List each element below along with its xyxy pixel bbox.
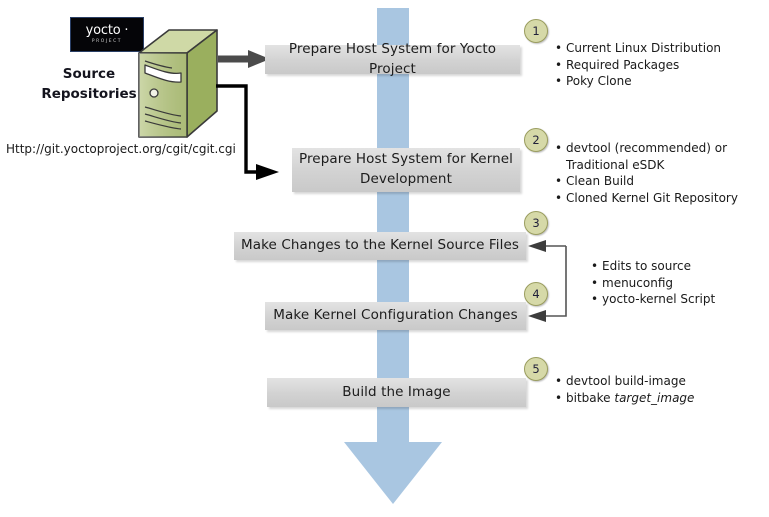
logo-subtext: PROJECT — [92, 38, 122, 45]
list-item: Cloned Kernel Git Repository — [566, 190, 767, 207]
step-2-bullets: devtool (recommended) or Traditional eSD… — [552, 140, 767, 206]
step-2-number: 2 — [532, 133, 539, 147]
source-repositories-label-line2: Repositories — [34, 84, 144, 104]
step-5-box-label: Build the Image — [342, 383, 450, 403]
bracket-steps-3-4-icon — [528, 240, 566, 322]
step-3-box-label: Make Changes to the Kernel Source Files — [241, 236, 519, 256]
list-item-text: bitbake — [566, 391, 614, 405]
list-item: bitbake target_image — [566, 390, 757, 407]
list-item: Required Packages — [566, 57, 762, 74]
step-3-number-badge: 3 — [524, 211, 548, 235]
list-item-italic-arg: target_image — [614, 391, 694, 405]
source-repositories-url: Http://git.yoctoproject.org/cgit/cgit.cg… — [6, 142, 236, 156]
step-1-number: 1 — [532, 24, 539, 38]
step-3-box[interactable]: Make Changes to the Kernel Source Files — [234, 232, 526, 260]
step-1-box[interactable]: Prepare Host System for Yocto Project — [265, 45, 520, 74]
step-4-box-label: Make Kernel Configuration Changes — [273, 306, 517, 326]
list-item: Clean Build — [566, 173, 767, 190]
list-item: yocto-kernel Script — [602, 291, 763, 308]
step-3-number: 3 — [532, 216, 539, 230]
server-tower-icon — [136, 27, 220, 144]
workflow-spine-arrowhead-icon — [344, 442, 442, 504]
steps-3-4-shared-bullets: Edits to source menuconfig yocto-kernel … — [588, 258, 763, 308]
step-2-box-label-line2: Development — [360, 170, 452, 190]
workflow-diagram: yocto · PROJECT Source Repositories Http… — [0, 0, 769, 517]
source-repositories-label-line1: Source — [34, 64, 144, 84]
step-4-number-badge: 4 — [524, 282, 548, 306]
list-item: menuconfig — [602, 275, 763, 292]
step-4-number: 4 — [532, 287, 539, 301]
step-5-number: 5 — [532, 362, 539, 376]
step-5-bullets: devtool build-image bitbake target_image — [552, 373, 757, 406]
logo-wordmark: yocto · — [86, 24, 129, 37]
step-1-number-badge: 1 — [524, 19, 548, 43]
list-item: Poky Clone — [566, 73, 762, 90]
yocto-project-logo: yocto · PROJECT — [70, 17, 144, 52]
step-4-box[interactable]: Make Kernel Configuration Changes — [265, 302, 526, 330]
step-5-box[interactable]: Build the Image — [267, 378, 526, 407]
step-1-box-label: Prepare Host System for Yocto Project — [265, 40, 520, 79]
step-2-box-label-line1: Prepare Host System for Kernel — [299, 150, 513, 170]
step-2-box[interactable]: Prepare Host System for Kernel Developme… — [292, 148, 520, 192]
source-repositories-label: Source Repositories — [34, 64, 144, 104]
arrow-server-to-step1-icon — [218, 50, 270, 68]
list-item-text: devtool (recommended) or — [566, 141, 727, 155]
list-item: Current Linux Distribution — [566, 40, 762, 57]
step-1-bullets: Current Linux Distribution Required Pack… — [552, 40, 762, 90]
step-2-number-badge: 2 — [524, 128, 548, 152]
list-item: devtool (recommended) or Traditional eSD… — [566, 140, 767, 173]
list-item: devtool build-image — [566, 373, 757, 390]
list-item-continuation: Traditional eSDK — [566, 157, 767, 174]
list-item: Edits to source — [602, 258, 763, 275]
arrow-server-to-step2-icon — [216, 86, 279, 180]
step-5-number-badge: 5 — [524, 357, 548, 381]
